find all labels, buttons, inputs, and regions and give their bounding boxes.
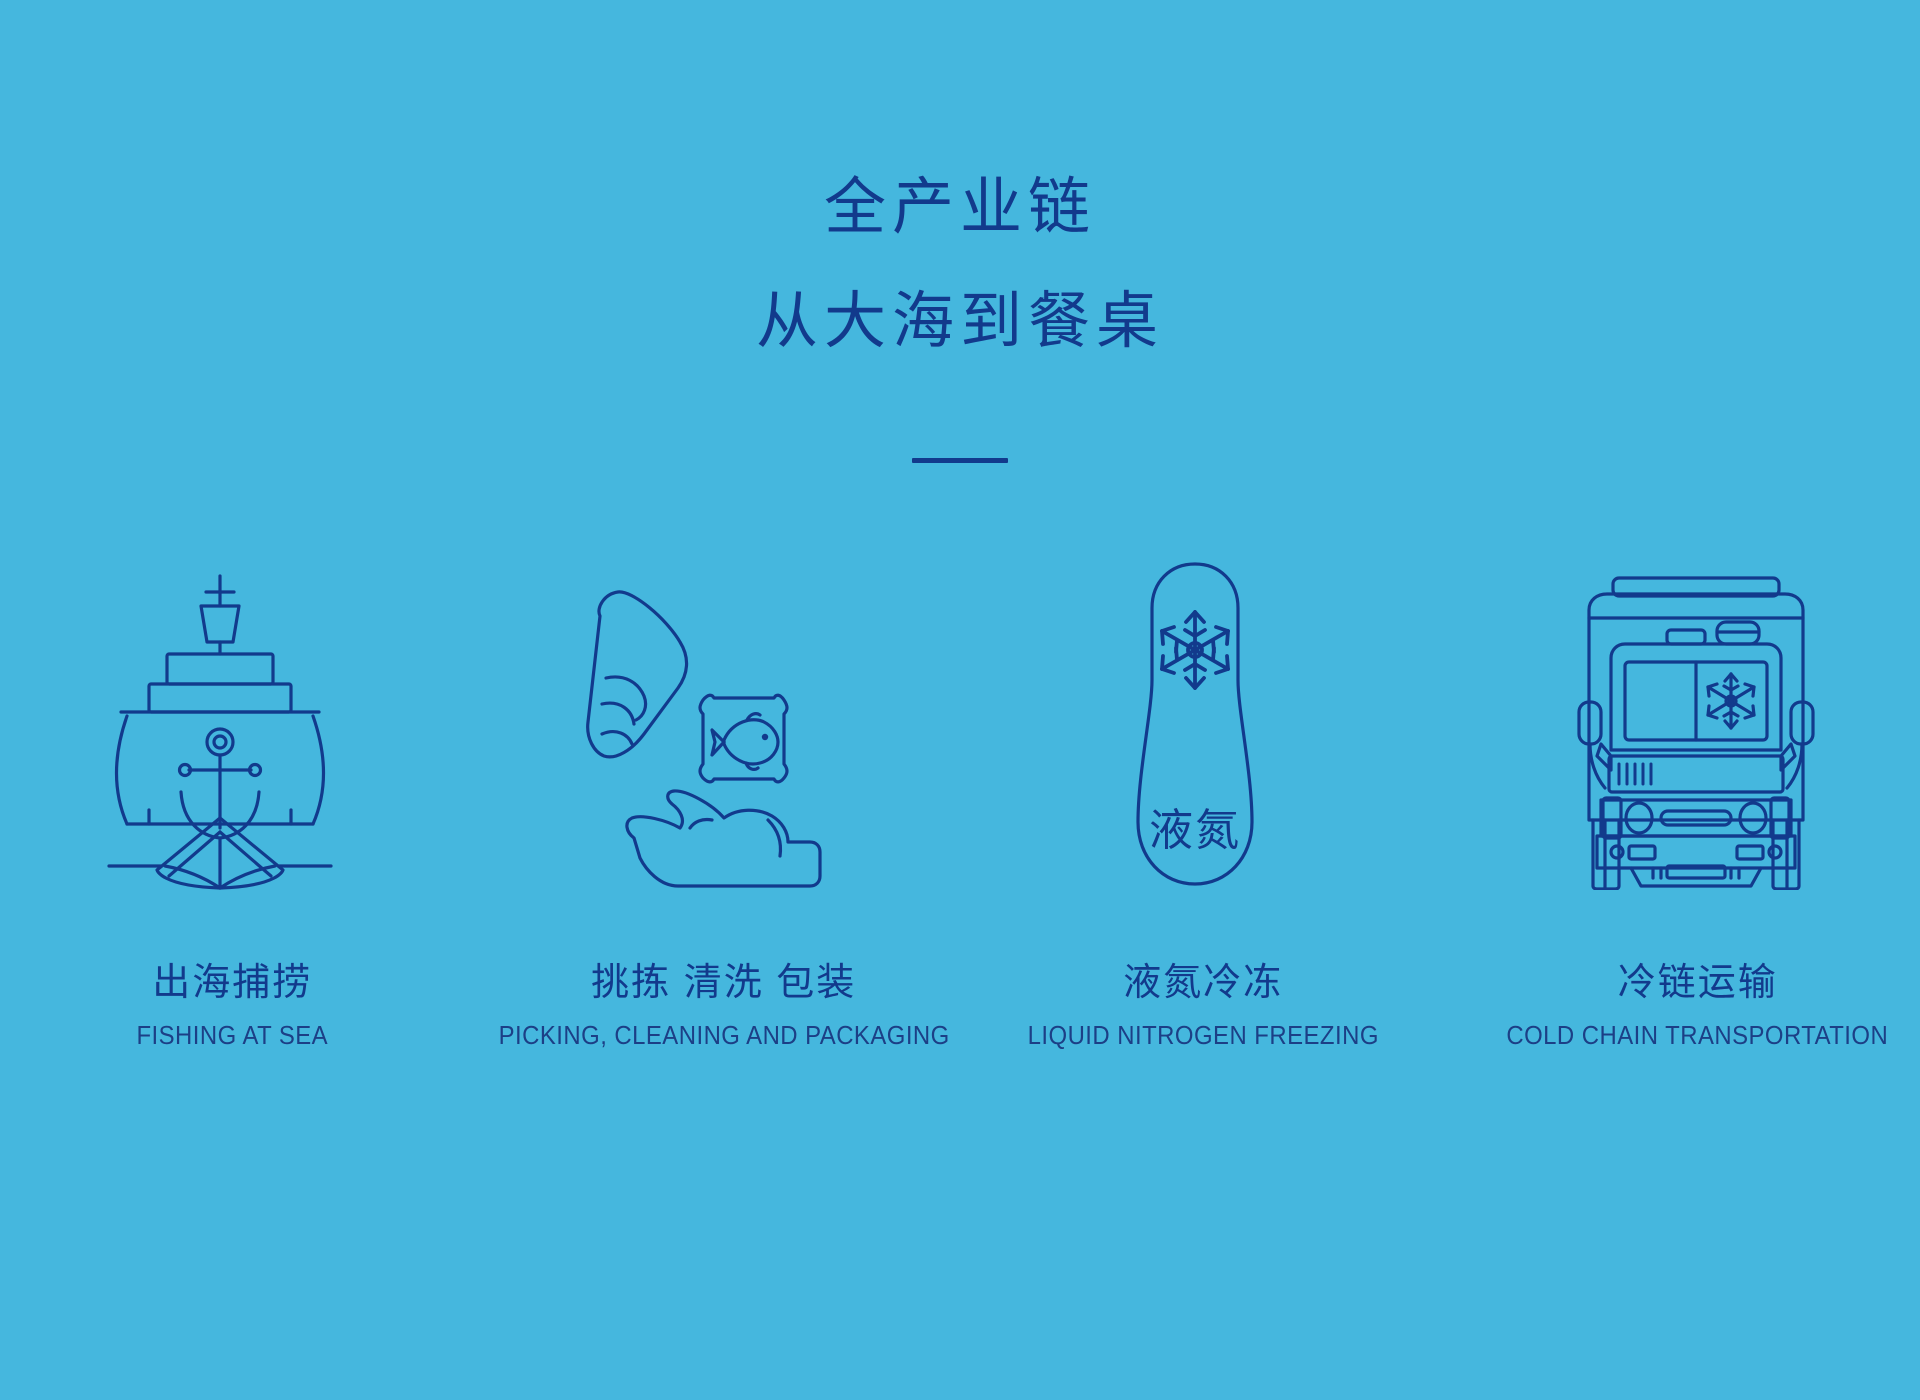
process-step-liquid-nitrogen-freezing[interactable]: 液氮 液氮冷冻 LIQUID NITROGEN FREEZING	[967, 520, 1444, 1160]
fishing-at-sea-labels: 出海捕捞 FISHING AT SEA	[0, 960, 471, 1051]
picking-cleaning-packaging-labels: 挑拣 清洗 包装 PICKING, CLEANING AND PACKAGING	[479, 960, 969, 1051]
process-columns: 出海捕捞 FISHING AT SEA	[0, 520, 1920, 1160]
tank-inner-text: 液氮	[1149, 806, 1241, 855]
snowflake-icon	[1162, 612, 1228, 688]
heading-line-2: 从大海到餐桌	[0, 290, 1920, 352]
liquid-nitrogen-freezing-labels: 液氮冷冻 LIQUID NITROGEN FREEZING	[965, 960, 1442, 1051]
label-en-cold-chain-transportation: COLD CHAIN TRANSPORTATION	[1478, 1020, 1916, 1051]
snowflake-icon	[1708, 674, 1754, 728]
heading-divider	[912, 458, 1008, 463]
truck-icon-box	[1457, 520, 1920, 890]
label-cn-fishing-at-sea: 出海捕捞	[0, 960, 471, 1008]
hands-icon-box	[467, 520, 957, 890]
page-heading: 全产业链 从大海到餐桌	[0, 176, 1920, 352]
hands-with-packaged-fish-icon	[562, 570, 862, 890]
label-en-picking-cleaning-packaging: PICKING, CLEANING AND PACKAGING	[498, 1020, 949, 1051]
refrigerated-truck-icon	[1571, 570, 1821, 890]
label-cn-liquid-nitrogen-freezing: 液氮冷冻	[965, 960, 1442, 1008]
heading-line-1: 全产业链	[0, 176, 1920, 238]
fishing-boat-icon	[105, 570, 335, 890]
process-step-fishing-at-sea[interactable]: 出海捕捞 FISHING AT SEA	[0, 520, 477, 1160]
infographic-stage: 全产业链 从大海到餐桌	[0, 0, 1920, 1400]
cold-chain-transportation-labels: 冷链运输 COLD CHAIN TRANSPORTATION	[1459, 960, 1920, 1051]
label-en-fishing-at-sea: FISHING AT SEA	[13, 1020, 451, 1051]
label-cn-picking-cleaning-packaging: 挑拣 清洗 包装	[479, 960, 969, 1008]
fishing-boat-icon-box	[0, 520, 459, 890]
process-step-picking-cleaning-packaging[interactable]: 挑拣 清洗 包装 PICKING, CLEANING AND PACKAGING	[477, 520, 967, 1160]
heading-divider-wrap	[0, 458, 1920, 463]
label-en-liquid-nitrogen-freezing: LIQUID NITROGEN FREEZING	[984, 1020, 1422, 1051]
label-cn-cold-chain-transportation: 冷链运输	[1459, 960, 1920, 1008]
process-step-cold-chain-transportation[interactable]: 冷链运输 COLD CHAIN TRANSPORTATION	[1443, 520, 1920, 1160]
liquid-nitrogen-tank-icon: 液氮	[1110, 560, 1280, 890]
liquid-nitrogen-icon-box: 液氮	[957, 520, 1434, 890]
